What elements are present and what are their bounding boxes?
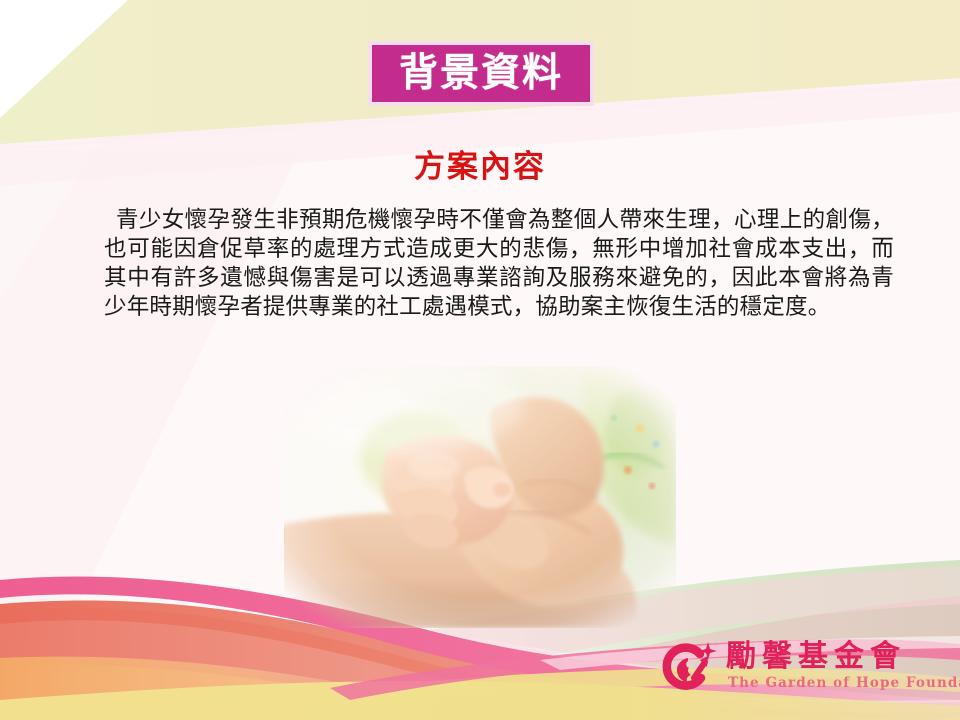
title-banner: 背景資料 (368, 41, 594, 106)
body-paragraph: 青少女懷孕發生非預期危機懷孕時不僅會為整個人帶來生理，心理上的創傷，也可能因倉促… (104, 206, 894, 322)
photo-baby-hand-on-palm (284, 366, 676, 628)
foundation-logo: 勵馨基金會 The Garden of Hope Foundation (660, 638, 950, 700)
logo-chinese-name: 勵馨基金會 (726, 638, 906, 676)
logo-english-name: The Garden of Hope Foundation (728, 675, 960, 691)
slide-canvas: 背景資料 方案內容 青少女懷孕發生非預期危機懷孕時不僅會為整個人帶來生理，心理上… (0, 0, 960, 720)
logo-g-mark-icon (660, 640, 720, 696)
subtitle-heading: 方案內容 (0, 150, 960, 184)
title-text: 背景資料 (399, 54, 563, 93)
